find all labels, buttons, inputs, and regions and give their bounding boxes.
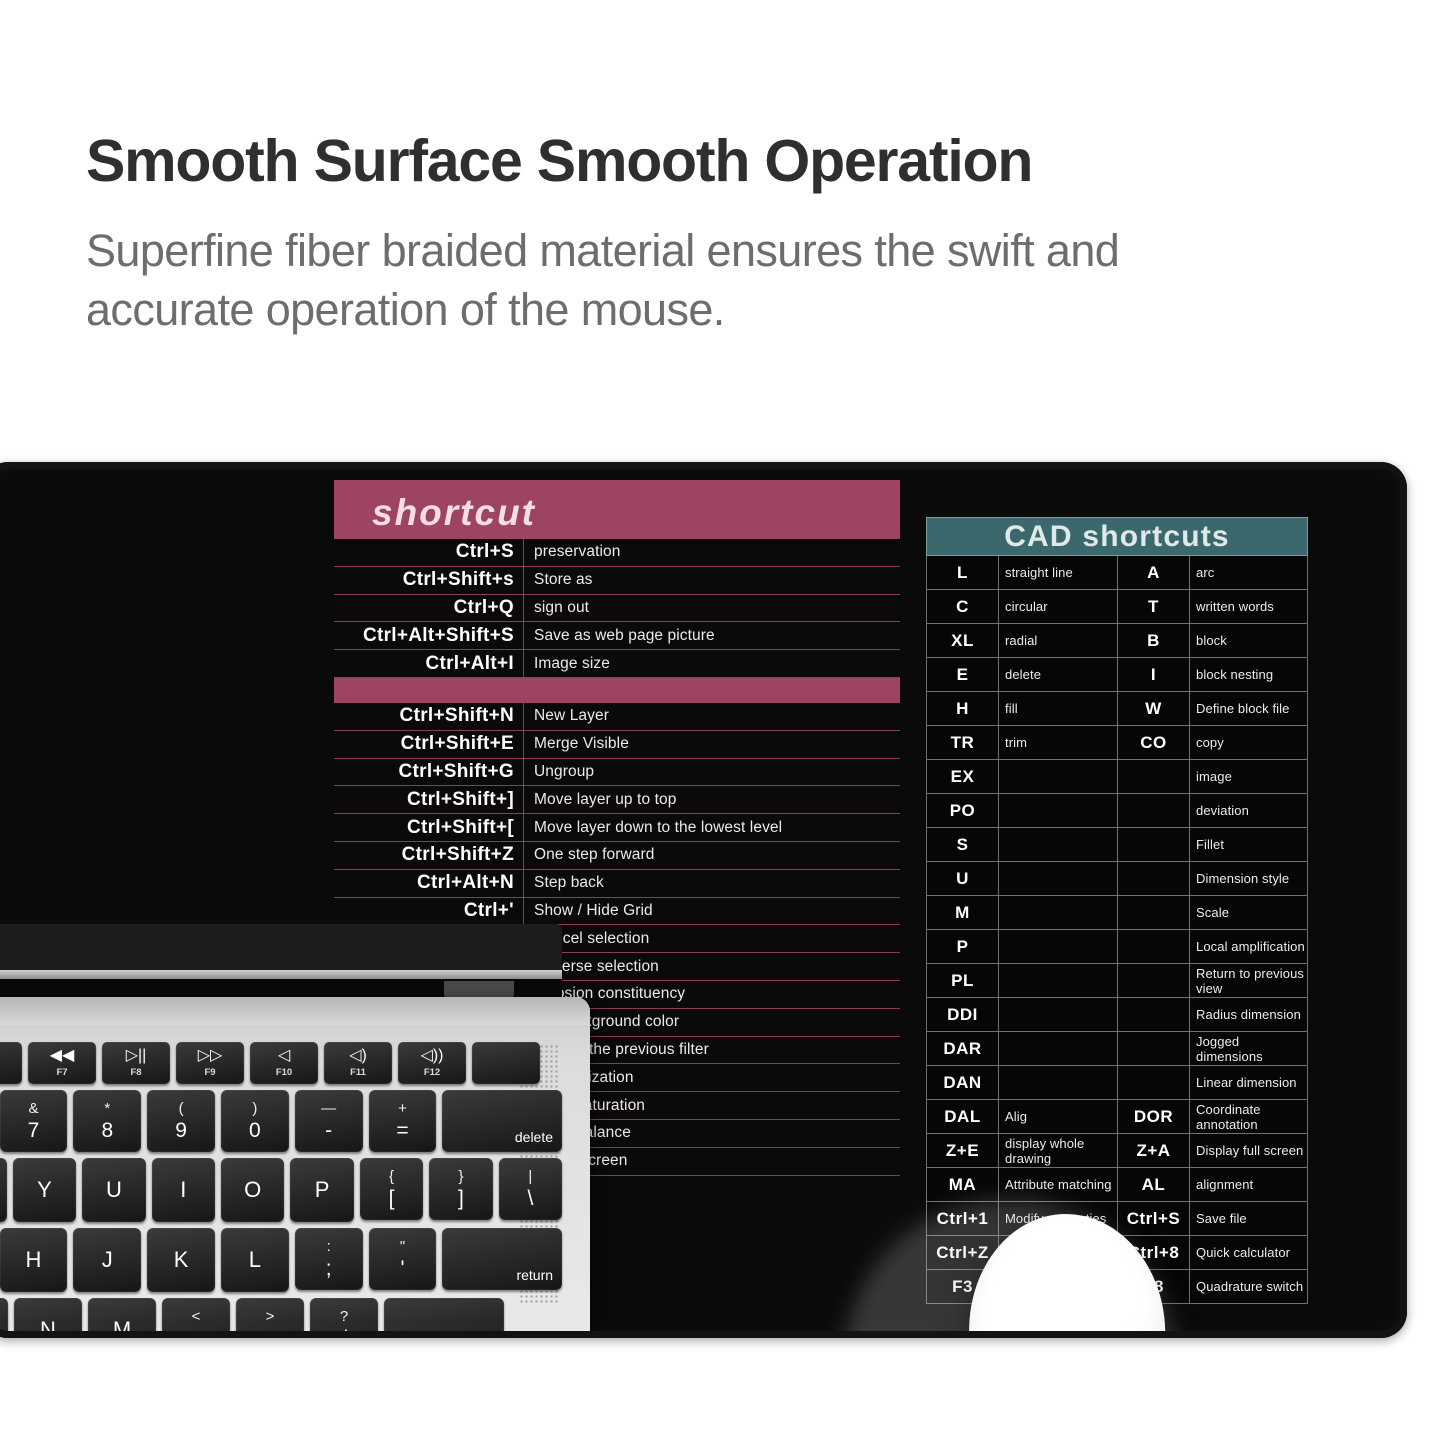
key-label: J: [102, 1247, 113, 1273]
marketing-header: Smooth Surface Smooth Operation Superfin…: [0, 0, 1445, 455]
shortcut-keys: Ctrl+Alt+Shift+S: [334, 622, 524, 649]
cad-shortcut-row: PLocal amplification: [926, 930, 1308, 964]
shortcut-keys: Ctrl+Shift+N: [334, 703, 524, 730]
key-label: [: [389, 1188, 395, 1209]
photoshop-table-divider: [334, 678, 900, 702]
cad-shortcut-row: UDimension style: [926, 862, 1308, 896]
cad-action: block nesting: [1190, 658, 1307, 691]
cad-action: radial: [999, 624, 1118, 657]
key-m[interactable]: M: [88, 1298, 156, 1338]
cad-shortcut-row: TRtrimCOcopy: [926, 726, 1308, 760]
key-sym-0[interactable]: <,: [162, 1298, 230, 1338]
cad-key: [1118, 998, 1190, 1031]
cad-key: [1118, 1032, 1190, 1065]
key-i[interactable]: I: [152, 1158, 215, 1222]
cad-shortcut-row: DALAligDORCoordinate annotation: [926, 1100, 1308, 1134]
cad-key: Ctrl+S: [1118, 1202, 1190, 1235]
key-label: =: [396, 1120, 408, 1141]
cad-table-title: CAD shortcuts: [926, 517, 1308, 556]
cad-action: Scale: [1190, 896, 1307, 929]
key-label: ': [400, 1258, 404, 1279]
cad-action: fill: [999, 692, 1118, 725]
cad-action: Alig: [999, 1100, 1118, 1133]
key-f6[interactable]: ☾F6: [0, 1042, 22, 1084]
key-label: \: [527, 1188, 533, 1209]
photoshop-shortcut-row: Ctrl+Alt+Shift+SSave as web page picture: [334, 622, 900, 650]
shortcut-action: Save as web page picture: [524, 622, 900, 649]
mouse-highlight: [997, 1236, 1130, 1338]
cad-action: Local amplification: [1190, 930, 1307, 963]
cad-key: I: [1118, 658, 1190, 691]
cad-action: image: [1190, 760, 1307, 793]
cad-shortcut-row: DARJogged dimensions: [926, 1032, 1308, 1066]
key-label: K: [174, 1247, 189, 1273]
cad-shortcut-row: MScale: [926, 896, 1308, 930]
shortcut-keys: Ctrl+Shift+Z: [334, 842, 524, 869]
photoshop-shortcut-row: Ctrl+Shift+[Move layer down to the lowes…: [334, 814, 900, 842]
page-subtitle: Superfine fiber braided material ensures…: [86, 222, 1286, 339]
cad-key: P: [927, 930, 999, 963]
key-label: F9: [204, 1067, 215, 1078]
key-t[interactable]: T: [0, 1158, 7, 1222]
key-label: U: [106, 1177, 122, 1203]
key-label: shift: [469, 1337, 495, 1338]
key-shift-label: >: [266, 1309, 275, 1324]
cad-shortcut-row: XLradialBblock: [926, 624, 1308, 658]
key-label: F11: [350, 1067, 366, 1078]
key-h[interactable]: H: [0, 1228, 67, 1292]
shortcut-keys: Ctrl+Shift+s: [334, 567, 524, 594]
cad-action: Quadrature switch: [1190, 1270, 1307, 1303]
cad-key: AL: [1118, 1168, 1190, 1201]
cad-shortcut-row: EdeleteIblock nesting: [926, 658, 1308, 692]
cad-table-body: Lstraight lineAarcCcircularTwritten word…: [926, 556, 1308, 1304]
cad-action: [999, 896, 1118, 929]
shortcut-keys: Ctrl+Shift+G: [334, 759, 524, 786]
cad-shortcut-row: Lstraight lineAarc: [926, 556, 1308, 590]
key-shift-label: ": [400, 1239, 405, 1254]
shortcut-keys: Ctrl+Shift+]: [334, 786, 524, 813]
key-label: -: [325, 1120, 332, 1141]
laptop-lid: [0, 924, 562, 976]
laptop-base-top-edge: [0, 997, 590, 1025]
key-shift-label: :: [327, 1239, 331, 1254]
cad-key: M: [927, 896, 999, 929]
key-f7[interactable]: ◀◀F7: [28, 1042, 96, 1084]
key-y[interactable]: Y: [13, 1158, 76, 1222]
cad-action: straight line: [999, 556, 1118, 589]
key-label: M: [113, 1317, 131, 1338]
cad-action: Dimension style: [1190, 862, 1307, 895]
shortcut-action: Move layer up to top: [524, 786, 900, 813]
cad-key: PL: [927, 964, 999, 997]
mousepad-surface: shortcut Ctrl+SpreservationCtrl+Shift+sS…: [0, 462, 1407, 1338]
key-shift-label: —: [321, 1101, 336, 1116]
cad-key: [1118, 896, 1190, 929]
photoshop-shortcut-row: Ctrl+Shift+GUngroup: [334, 759, 900, 787]
cad-key: B: [1118, 624, 1190, 657]
key-label: /: [341, 1328, 347, 1338]
key-delete[interactable]: delete: [442, 1090, 562, 1152]
cad-shortcut-row: MAAttribute matchingALalignment: [926, 1168, 1308, 1202]
photoshop-shortcut-row: Ctrl+Qsign out: [334, 595, 900, 623]
key-shift-label: {: [389, 1169, 394, 1184]
key-7[interactable]: &7: [0, 1090, 67, 1152]
key-j[interactable]: J: [73, 1228, 141, 1292]
photoshop-shortcut-row: Ctrl+Shift+]Move layer up to top: [334, 786, 900, 814]
key-label: O: [244, 1177, 261, 1203]
cad-action: copy: [1190, 726, 1307, 759]
photoshop-shortcut-row: Ctrl+Alt+IImage size: [334, 650, 900, 678]
shortcut-action: Move layer down to the lowest level: [524, 814, 900, 841]
key-punct-0[interactable]: :;: [295, 1228, 363, 1290]
shortcut-action: One step forward: [524, 842, 900, 869]
key-return[interactable]: return: [442, 1228, 562, 1290]
key-9[interactable]: (9: [147, 1090, 215, 1152]
cad-action: Return to previous view: [1190, 964, 1307, 997]
cad-key: DDI: [927, 998, 999, 1031]
key-f10[interactable]: ◁F10: [250, 1042, 318, 1084]
cad-action: [999, 964, 1118, 997]
cad-shortcut-row: EXimage: [926, 760, 1308, 794]
keyboard-top-letter-row: RTYUIOP{[}]|\: [0, 1158, 562, 1222]
cad-action: Fillet: [1190, 828, 1307, 861]
key-shift-right[interactable]: shift: [384, 1298, 504, 1338]
key-o[interactable]: O: [221, 1158, 284, 1222]
key-shift-label: <: [192, 1309, 201, 1324]
key-shift-label: ?: [340, 1309, 348, 1324]
cad-key: E: [927, 658, 999, 691]
key-8[interactable]: *8: [73, 1090, 141, 1152]
cad-action: alignment: [1190, 1168, 1307, 1201]
key-sym-2[interactable]: ?/: [310, 1298, 378, 1338]
cad-action: deviation: [1190, 794, 1307, 827]
cad-action: trim: [999, 726, 1118, 759]
cad-key: XL: [927, 624, 999, 657]
cad-action: written words: [1190, 590, 1307, 623]
photoshop-shortcut-row: Ctrl+Shift+NNew Layer: [334, 703, 900, 731]
photoshop-shortcut-row: Ctrl+Shift+EMerge Visible: [334, 731, 900, 759]
key-label: F10: [276, 1067, 292, 1078]
cad-key: [1118, 930, 1190, 963]
keyboard-function-row: ☼F5☾F6◀◀F7▷||F8▷▷F9◁F10◁)F11◁))F12: [0, 1042, 562, 1084]
key-k[interactable]: K: [147, 1228, 215, 1292]
key-label: I: [180, 1177, 186, 1203]
cad-key: [1118, 828, 1190, 861]
keyboard-bottom-letter-row: VBNM<,>.?/shift: [0, 1298, 562, 1338]
cad-action: [999, 1032, 1118, 1065]
cad-key: DAL: [927, 1100, 999, 1133]
cad-key: [1118, 760, 1190, 793]
cad-shortcut-row: PLReturn to previous view: [926, 964, 1308, 998]
photoshop-table-title: shortcut: [334, 480, 900, 538]
cad-action: [999, 1066, 1118, 1099]
key-label: 0: [249, 1120, 261, 1141]
key-label: H: [26, 1247, 42, 1273]
key-label: F7: [56, 1067, 67, 1078]
cad-shortcut-row: POdeviation: [926, 794, 1308, 828]
key-label: 9: [175, 1120, 187, 1141]
key-l[interactable]: L: [221, 1228, 289, 1292]
cad-action: Define block file: [1190, 692, 1307, 725]
cad-key: CO: [1118, 726, 1190, 759]
key-u[interactable]: U: [82, 1158, 145, 1222]
photoshop-shortcut-row: Ctrl+Alt+NStep back: [334, 870, 900, 898]
key-label: L: [249, 1247, 261, 1273]
cad-shortcut-row: HfillWDefine block file: [926, 692, 1308, 726]
media-icon: ◀◀: [50, 1048, 75, 1064]
photoshop-shortcut-row: Ctrl+Shift+sStore as: [334, 567, 900, 595]
cad-key: H: [927, 692, 999, 725]
key-label: .: [267, 1328, 273, 1338]
cad-action: delete: [999, 658, 1118, 691]
key-shift-label: *: [104, 1101, 110, 1116]
shortcut-action: sign out: [524, 595, 900, 622]
cad-action: [999, 760, 1118, 793]
shortcut-keys: Ctrl+': [334, 898, 524, 925]
shortcut-keys: Ctrl+Alt+N: [334, 870, 524, 897]
cad-action: Display full screen: [1190, 1134, 1307, 1167]
cad-action: [999, 794, 1118, 827]
cad-shortcut-row: Z+Edisplay whole drawingZ+ADisplay full …: [926, 1134, 1308, 1168]
laptop: ☼F5☾F6◀◀F7▷||F8▷▷F9◁F10◁)F11◁))F12 %5^6&…: [0, 924, 662, 1338]
cad-key: W: [1118, 692, 1190, 725]
cad-action: [999, 930, 1118, 963]
cad-key: PO: [927, 794, 999, 827]
cad-shortcut-row: DANLinear dimension: [926, 1066, 1308, 1100]
cad-action: [999, 828, 1118, 861]
key-label: F12: [424, 1067, 440, 1078]
cad-key: Z+E: [927, 1134, 999, 1167]
key-label: F8: [130, 1067, 141, 1078]
cad-action: Coordinate annotation: [1190, 1100, 1307, 1133]
key-shift-label: ): [252, 1101, 257, 1116]
cad-key: [1118, 1066, 1190, 1099]
key-bracket-1[interactable]: }]: [429, 1158, 492, 1220]
cad-key: DAR: [927, 1032, 999, 1065]
key-bracket-0[interactable]: {[: [360, 1158, 423, 1220]
shortcut-action: Step back: [524, 870, 900, 897]
key-label: delete: [515, 1129, 553, 1145]
key-shift-label: (: [179, 1101, 184, 1116]
cad-action: Radius dimension: [1190, 998, 1307, 1031]
media-icon: ◁)): [421, 1048, 444, 1064]
key-label: ]: [458, 1188, 464, 1209]
key-f13[interactable]: [472, 1042, 540, 1084]
shortcut-action: New Layer: [524, 703, 900, 730]
cad-action: Linear dimension: [1190, 1066, 1307, 1099]
media-icon: ◁: [278, 1048, 290, 1064]
cad-action: circular: [999, 590, 1118, 623]
key-punct-1[interactable]: "': [369, 1228, 437, 1290]
shortcut-keys: Ctrl+Q: [334, 595, 524, 622]
key-label: Y: [37, 1177, 52, 1203]
key-label: N: [40, 1317, 56, 1338]
cad-action: Quick calculator: [1190, 1236, 1307, 1269]
cad-action: [999, 862, 1118, 895]
key-label: 7: [28, 1120, 40, 1141]
shortcut-keys: Ctrl+Shift+E: [334, 731, 524, 758]
key-label: P: [315, 1177, 330, 1203]
key-sym-1[interactable]: >.: [236, 1298, 304, 1338]
cad-key: DAN: [927, 1066, 999, 1099]
key-f12[interactable]: ◁))F12: [398, 1042, 466, 1084]
cad-key: EX: [927, 760, 999, 793]
key-label: ,: [193, 1328, 199, 1338]
photoshop-shortcut-row: Ctrl+Shift+ZOne step forward: [334, 842, 900, 870]
cad-action: [999, 998, 1118, 1031]
cad-key: [1118, 862, 1190, 895]
photoshop-shortcut-row: Ctrl+'Show / Hide Grid: [334, 898, 900, 926]
key-shift-label: &: [28, 1101, 38, 1116]
cad-key: C: [927, 590, 999, 623]
cad-key: Z+A: [1118, 1134, 1190, 1167]
laptop-lid-lip: [0, 970, 562, 979]
cad-action: arc: [1190, 556, 1307, 589]
photoshop-shortcut-row: Ctrl+Spreservation: [334, 539, 900, 567]
key--[interactable]: —-: [295, 1090, 363, 1152]
cad-key: T: [1118, 590, 1190, 623]
shortcut-action: Image size: [524, 650, 900, 677]
shortcut-action: Ungroup: [524, 759, 900, 786]
cad-shortcut-row: SFillet: [926, 828, 1308, 862]
shortcut-keys: Ctrl+Shift+[: [334, 814, 524, 841]
cad-key: DOR: [1118, 1100, 1190, 1133]
media-icon: ◁): [349, 1048, 367, 1064]
cad-shortcut-row: DDIRadius dimension: [926, 998, 1308, 1032]
keyboard-number-row: %5^6&7*8(9)0—-+=delete: [0, 1090, 562, 1152]
keyboard-home-row: FGHJKL:;"'return: [0, 1228, 562, 1292]
shortcut-keys: Ctrl+S: [334, 539, 524, 566]
key-label: return: [516, 1267, 553, 1283]
photoshop-table-group-1: Ctrl+SpreservationCtrl+Shift+sStore asCt…: [334, 538, 900, 678]
shortcut-action: Store as: [524, 567, 900, 594]
shortcut-action: Show / Hide Grid: [524, 898, 900, 925]
cad-key: MA: [927, 1168, 999, 1201]
cad-key: L: [927, 556, 999, 589]
cad-action: block: [1190, 624, 1307, 657]
shortcut-action: Merge Visible: [524, 731, 900, 758]
page-title: Smooth Surface Smooth Operation: [86, 132, 1032, 191]
key-bracket-2[interactable]: |\: [499, 1158, 562, 1220]
cad-action: display whole drawing: [999, 1134, 1118, 1167]
key-shift-label: }: [458, 1169, 463, 1184]
key-p[interactable]: P: [290, 1158, 353, 1222]
media-icon: ▷||: [126, 1048, 147, 1064]
cad-key: A: [1118, 556, 1190, 589]
key-f9[interactable]: ▷▷F9: [176, 1042, 244, 1084]
cad-key: U: [927, 862, 999, 895]
key-shift-label: +: [398, 1101, 407, 1116]
shortcut-action: preservation: [524, 539, 900, 566]
laptop-hinge-notch: [444, 981, 514, 998]
cad-key: TR: [927, 726, 999, 759]
key-b[interactable]: B: [0, 1298, 8, 1338]
cad-key: [1118, 964, 1190, 997]
media-icon: ▷▷: [198, 1048, 223, 1064]
key-label: 8: [101, 1120, 113, 1141]
cad-shortcut-table: CAD shortcuts Lstraight lineAarcCcircula…: [926, 517, 1308, 1304]
shortcut-keys: Ctrl+Alt+I: [334, 650, 524, 677]
cad-action: Jogged dimensions: [1190, 1032, 1307, 1065]
key-f8[interactable]: ▷||F8: [102, 1042, 170, 1084]
laptop-keyboard: ☼F5☾F6◀◀F7▷||F8▷▷F9◁F10◁)F11◁))F12 %5^6&…: [0, 1042, 562, 1338]
cad-shortcut-row: CcircularTwritten words: [926, 590, 1308, 624]
cad-key: S: [927, 828, 999, 861]
key-n[interactable]: N: [14, 1298, 82, 1338]
cad-action: Attribute matching: [999, 1168, 1118, 1201]
key-=[interactable]: +=: [369, 1090, 437, 1152]
key-f11[interactable]: ◁)F11: [324, 1042, 392, 1084]
key-0[interactable]: )0: [221, 1090, 289, 1152]
key-label: ;: [326, 1258, 332, 1279]
cad-key: [1118, 794, 1190, 827]
cad-action: Save file: [1190, 1202, 1307, 1235]
key-shift-label: |: [528, 1169, 532, 1184]
